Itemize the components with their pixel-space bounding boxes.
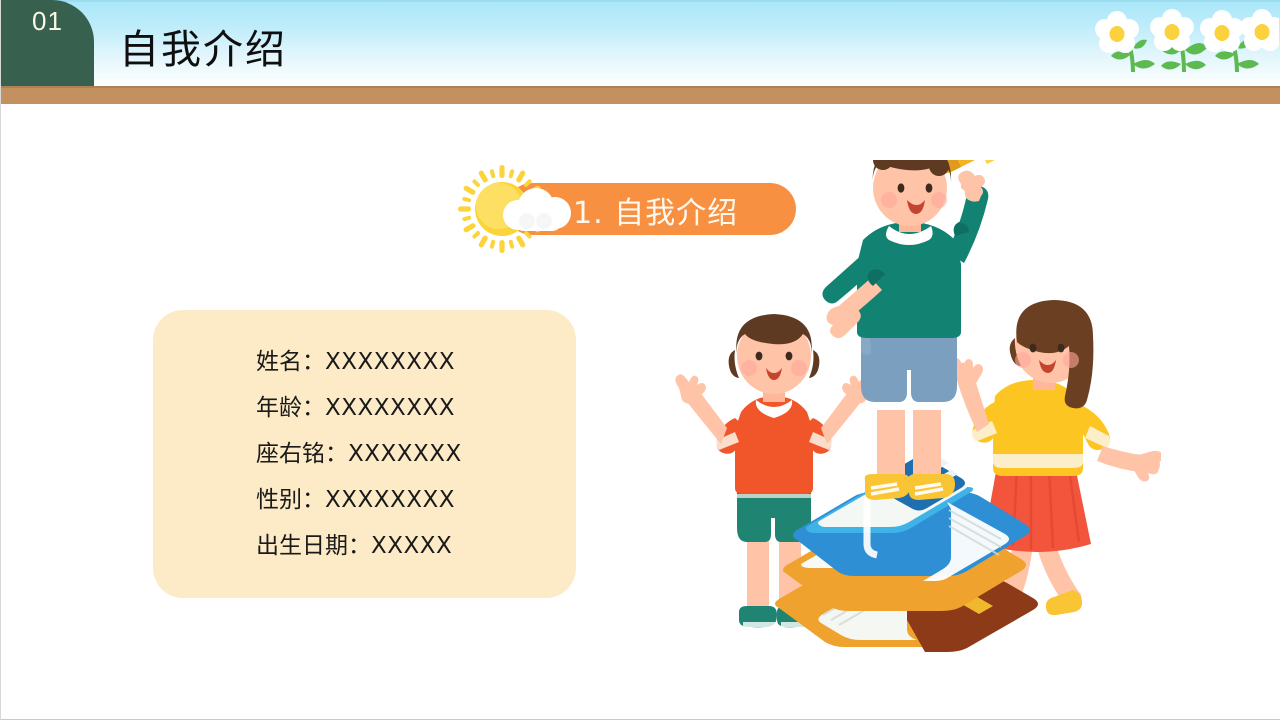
info-row-age: 年龄：XXXXXXXX	[256, 393, 586, 439]
info-row-gender: 性别：XXXXXXXX	[256, 485, 586, 531]
info-row-motto: 座右铭：XXXXXXX	[256, 439, 586, 485]
boy-center	[822, 160, 1016, 500]
header-divider-shade	[1, 86, 1280, 88]
info-row-name: 姓名：XXXXXXXX	[256, 347, 586, 393]
info-label-gender: 性别：	[256, 487, 325, 513]
info-label-motto: 座右铭：	[256, 441, 348, 467]
info-row-birthdate: 出生日期：XXXXX	[256, 531, 586, 577]
info-value-motto: XXXXXXX	[348, 441, 462, 467]
info-value-birthdate: XXXXX	[371, 533, 452, 559]
info-value-gender: XXXXXXXX	[325, 487, 455, 513]
info-label-birthdate: 出生日期：	[256, 533, 371, 559]
sun-cloud-icon	[456, 163, 591, 255]
three-children-on-books-illustration	[661, 160, 1161, 660]
info-value-name: XXXXXXXX	[325, 349, 455, 375]
slide-canvas: 01 自我介绍 1. 自我介绍	[0, 0, 1280, 720]
page-title: 自我介绍	[119, 17, 287, 75]
info-label-age: 年龄：	[256, 395, 325, 421]
daisy-flowers-decoration	[1089, 8, 1279, 86]
header-divider-bar	[1, 86, 1280, 104]
section-number-tab: 01	[1, 0, 94, 86]
info-value-age: XXXXXXXX	[325, 395, 455, 421]
info-label-name: 姓名：	[256, 349, 325, 375]
header-top-rule	[1, 0, 1280, 2]
slide-header: 01 自我介绍	[1, 0, 1280, 86]
section-number-label: 01	[1, 8, 94, 34]
profile-info-list: 姓名：XXXXXXXX 年龄：XXXXXXXX 座右铭：XXXXXXX 性别：X…	[256, 347, 586, 577]
